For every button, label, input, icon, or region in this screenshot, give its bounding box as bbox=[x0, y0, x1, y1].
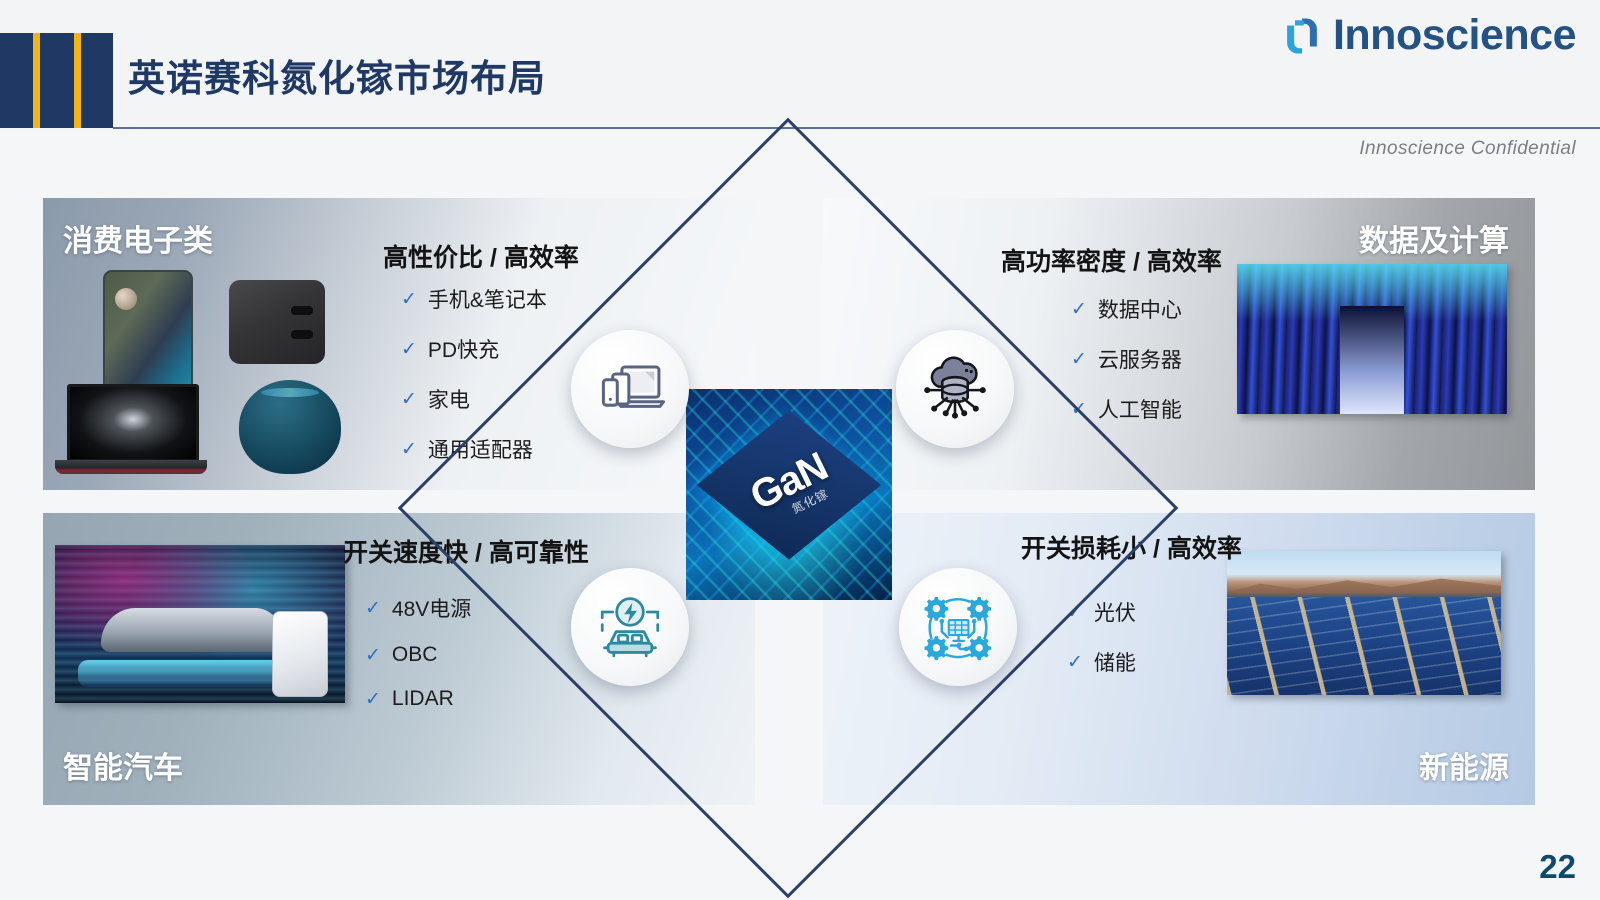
quadrant-label-smart-automotive: 智能汽车 bbox=[63, 743, 183, 787]
check-icon: ✓ bbox=[1071, 300, 1087, 319]
quadrant-label-data-and-computing: 数据及计算 bbox=[1359, 216, 1509, 260]
gan-charger-photo bbox=[229, 280, 325, 364]
bullet-text: 光伏 bbox=[1094, 597, 1136, 627]
check-icon: ✓ bbox=[365, 690, 381, 709]
solar-farm-photo bbox=[1227, 551, 1501, 695]
node-smart-automotive[interactable] bbox=[571, 568, 689, 686]
check-icon: ✓ bbox=[401, 340, 417, 359]
brand-logo-text: Innoscience bbox=[1333, 14, 1576, 57]
bullet-text: 数据中心 bbox=[1098, 294, 1182, 324]
list-item: ✓云服务器 bbox=[1071, 344, 1182, 374]
list-item: ✓储能 bbox=[1067, 647, 1136, 677]
slide-root: 英诺赛科氮化镓市场布局 Innoscience Innoscience Conf… bbox=[0, 0, 1600, 900]
charger-port-1 bbox=[291, 306, 313, 315]
bullet-list-smart-automotive: ✓48V电源 ✓OBC ✓LIDAR bbox=[365, 593, 471, 731]
ev-charging-car-icon bbox=[593, 590, 667, 664]
check-icon: ✓ bbox=[401, 440, 417, 459]
bullet-text: 人工智能 bbox=[1098, 394, 1182, 424]
solar-panel-rows bbox=[1227, 597, 1501, 695]
bullet-text: 手机&笔记本 bbox=[428, 284, 547, 314]
brand-logo: Innoscience bbox=[1281, 14, 1576, 57]
list-item: ✓手机&笔记本 bbox=[401, 284, 547, 314]
feature-heading-consumer-electronics: 高性价比 / 高效率 bbox=[383, 238, 579, 274]
smart-car-photo bbox=[55, 545, 345, 703]
check-icon: ✓ bbox=[401, 290, 417, 309]
laptop-base bbox=[55, 460, 207, 474]
bullet-list-new-energy: ✓光伏 ✓储能 bbox=[1067, 597, 1136, 697]
devices-laptop-phone-icon bbox=[593, 352, 667, 426]
charger-port-2 bbox=[291, 330, 313, 339]
list-item: ✓数据中心 bbox=[1071, 294, 1182, 324]
title-accent-bars bbox=[0, 33, 113, 128]
node-new-energy[interactable] bbox=[899, 568, 1017, 686]
feature-heading-data-and-computing: 高功率密度 / 高效率 bbox=[1001, 242, 1222, 278]
bullet-text: PD快充 bbox=[428, 334, 499, 364]
quadrant-label-consumer-electronics: 消费电子类 bbox=[63, 216, 213, 260]
bullet-text: OBC bbox=[392, 643, 438, 667]
bullet-text: 家电 bbox=[428, 384, 470, 414]
slide-header: 英诺赛科氮化镓市场布局 Innoscience Innoscience Conf… bbox=[0, 0, 1600, 130]
gan-chip-image: GaN 氮化镓 bbox=[686, 389, 892, 600]
solar-gears-circuit-icon bbox=[921, 590, 995, 664]
phone-in-hand bbox=[272, 611, 328, 697]
data-center-corridor-photo bbox=[1237, 264, 1507, 414]
list-item: ✓PD快充 bbox=[401, 334, 547, 364]
list-item: ✓LIDAR bbox=[365, 687, 471, 711]
car-body bbox=[101, 608, 281, 652]
bullet-text: 48V电源 bbox=[392, 593, 471, 623]
confidentiality-notice: Innoscience Confidential bbox=[1359, 138, 1576, 160]
check-icon: ✓ bbox=[401, 390, 417, 409]
page-title: 英诺赛科氮化镓市场布局 bbox=[128, 48, 546, 102]
quadrant-label-new-energy: 新能源 bbox=[1419, 743, 1509, 787]
accent-stripe-gold-1 bbox=[33, 33, 40, 128]
innoscience-loop-logo-icon bbox=[1281, 15, 1323, 57]
bullet-text: LIDAR bbox=[392, 687, 454, 711]
accent-stripe-gold-2 bbox=[74, 33, 81, 128]
list-item: ✓48V电源 bbox=[365, 593, 471, 623]
check-icon: ✓ bbox=[365, 599, 381, 618]
smart-speaker-photo bbox=[239, 380, 341, 474]
bullet-text: 储能 bbox=[1094, 647, 1136, 677]
header-divider bbox=[113, 127, 1600, 129]
page-number: 22 bbox=[1539, 848, 1576, 886]
cloud-database-network-icon bbox=[918, 352, 992, 426]
mountain-range bbox=[1227, 573, 1501, 593]
list-item: ✓OBC bbox=[365, 643, 471, 667]
node-consumer-electronics[interactable] bbox=[571, 330, 689, 448]
laptop-screen bbox=[67, 384, 199, 462]
node-data-and-computing[interactable] bbox=[896, 330, 1014, 448]
check-icon: ✓ bbox=[365, 646, 381, 665]
check-icon: ✓ bbox=[1071, 350, 1087, 369]
gaming-laptop-photo bbox=[55, 384, 207, 474]
check-icon: ✓ bbox=[1067, 653, 1083, 672]
bullet-text: 云服务器 bbox=[1098, 344, 1182, 374]
